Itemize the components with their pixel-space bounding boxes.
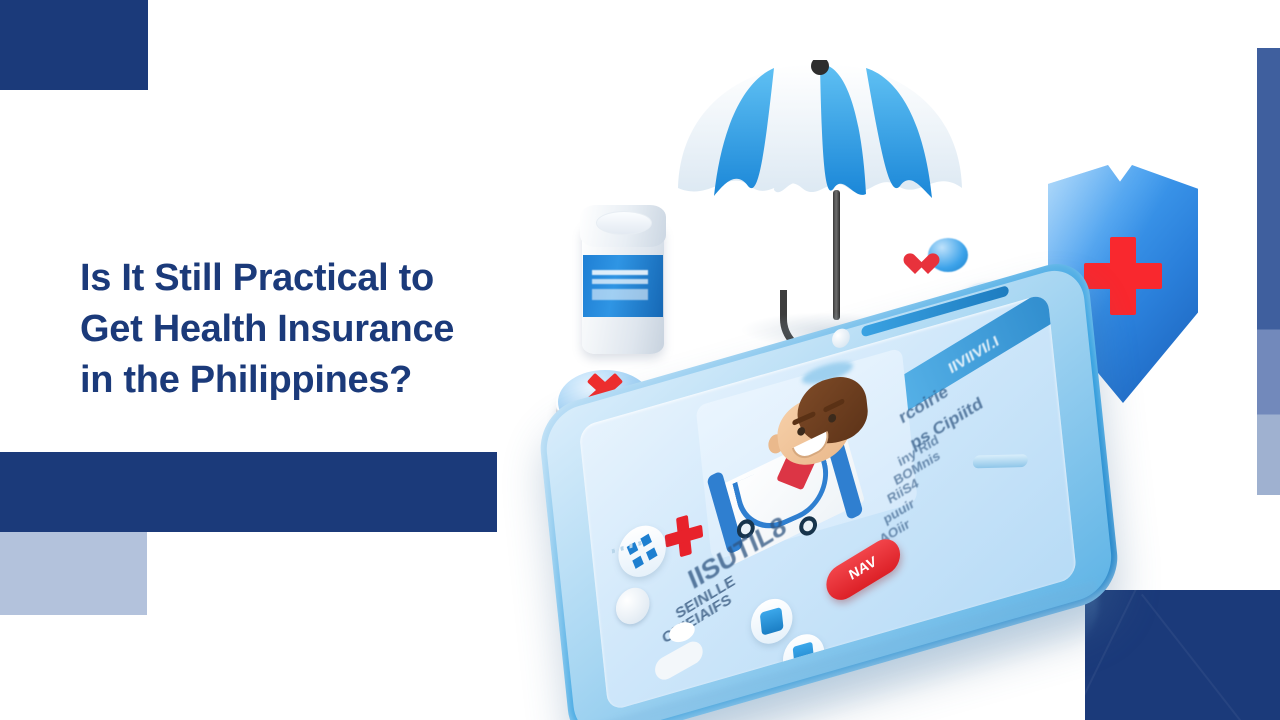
calendar-icon[interactable] (749, 594, 795, 649)
hero-illustration: IIVIIVI/.I (530, 10, 1260, 710)
headline-line-3: in the Philippines? (80, 355, 580, 406)
bottle-cap (580, 205, 666, 247)
nav-button[interactable]: NAV (821, 532, 905, 606)
headline-line-1: Is It Still Practical to (80, 253, 580, 304)
headline-line-2: Get Health Insurance (80, 304, 580, 355)
poster-canvas: Is It Still Practical to Get Health Insu… (0, 0, 1280, 720)
page-title: Is It Still Practical to Get Health Insu… (80, 253, 580, 405)
umbrella-canopy (670, 60, 970, 220)
lower-left-pale-block (0, 532, 147, 615)
bottle-label-text (592, 270, 648, 300)
umbrella-icon (670, 40, 970, 340)
right-edge-gradient-bar (1257, 48, 1280, 495)
grid-icon[interactable] (616, 520, 668, 583)
pill-bottle-icon (572, 200, 677, 360)
top-left-navy-block (0, 0, 148, 90)
heart-icon (915, 250, 941, 276)
phone-side-button[interactable] (972, 454, 1028, 468)
nav-button-label: NAV (824, 539, 901, 597)
mid-left-navy-bar (0, 452, 497, 532)
red-cross-icon (663, 511, 704, 561)
